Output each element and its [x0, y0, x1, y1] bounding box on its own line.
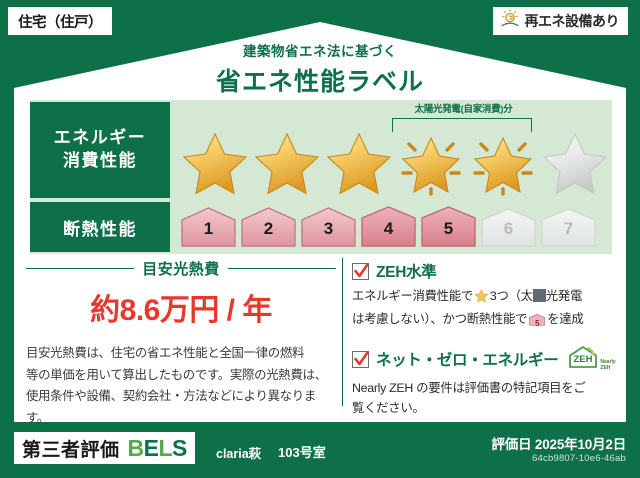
cost-rule-left [26, 268, 134, 270]
star-2 [252, 128, 322, 196]
zeh-body-part-c: 光発電 [546, 289, 582, 303]
zeh-standard-item: ZEH水準 エネルギー消費性能で3つ（太光発電 は考慮しない）、かつ断熱性能で5… [352, 260, 624, 334]
zeh-house-icon: ZEH [567, 345, 599, 374]
zeh-standard-title: ZEH水準 [376, 260, 437, 282]
cost-heading: 目安光熱費 [26, 258, 336, 279]
energy-label-line1: エネルギー [54, 127, 147, 150]
net-zero-body: Nearly ZEH の要件は評価書の特記項目をご 覧ください。 [352, 378, 624, 419]
evaluation-date: 評価日 2025年10月2日 [491, 433, 626, 453]
room-number: 103号室 [278, 442, 326, 461]
star-6-empty [540, 128, 610, 196]
check-icon [352, 263, 369, 280]
column-divider [342, 258, 343, 406]
solar-bracket-label: 太陽光発電(自家消費)分 [376, 101, 551, 115]
cost-rule-right [228, 268, 336, 270]
estimated-utility-cost-section: 目安光熱費 約8.6万円 / 年 目安光熱費は、住宅の省エネ性能と全国一律の燃料… [26, 256, 336, 430]
inline-house-icon: 5 [529, 313, 545, 333]
category-chip: 住宅（住戸） [8, 7, 112, 35]
category-chip-label: 住宅（住戸） [18, 11, 102, 32]
insulation-level-3-number: 3 [300, 219, 357, 239]
energy-label-line2: 消費性能 [63, 150, 137, 173]
cost-value: 約8.6万円 / 年 [26, 285, 336, 329]
title-main: 省エネ性能ラベル [0, 62, 640, 98]
zeh-logo: ZEH Nearly ZEH [567, 345, 615, 374]
insulation-level-5: 5 [420, 206, 477, 248]
cost-title: 目安光熱費 [142, 258, 220, 279]
third-party-evaluation-label: 第三者評価 [22, 435, 120, 462]
stars-row [180, 128, 610, 196]
zeh-standard-body: エネルギー消費性能で3つ（太光発電 は考慮しない）、かつ断熱性能で5を達成 [352, 286, 624, 334]
star-4-solar [396, 128, 466, 196]
cost-note-line-2: 等の単価を用いて算出したものです。実際の光熱費は、 [26, 365, 336, 387]
net-zero-body-line-2: 覧ください。 [352, 398, 624, 418]
zeh-logo-sub: Nearly ZEH [600, 360, 615, 374]
cost-note: 目安光熱費は、住宅の省エネ性能と全国一律の燃料 等の単価を用いて算出したものです… [26, 343, 336, 430]
energy-performance-label: エネルギー 消費性能 [30, 102, 170, 198]
zeh-body-part-e: を達成 [547, 312, 583, 326]
insulation-level-7: 7 [540, 206, 597, 248]
evaluation-id: 64cb9807-10e6-46ab [532, 453, 626, 464]
building-name: claria萩 [216, 443, 261, 462]
bels-chip: 第三者評価 BELS [14, 432, 195, 464]
star-3 [324, 128, 394, 196]
insulation-level-2-number: 2 [240, 219, 297, 239]
star-5-solar [468, 128, 538, 196]
insulation-level-1-number: 1 [180, 219, 237, 239]
bels-letter-3: L [158, 435, 172, 461]
zeh-body-part-a: エネルギー消費性能で [352, 289, 473, 303]
redaction-block [533, 289, 546, 302]
insulation-label-text: 断熱性能 [63, 215, 137, 240]
bels-letter-2: E [144, 435, 159, 461]
label-title: 建築物省エネ法に基づく 省エネ性能ラベル [0, 40, 640, 98]
title-subtitle: 建築物省エネ法に基づく [0, 40, 640, 60]
performance-block: エネルギー 消費性能 太陽光発電(自家消費)分 [28, 100, 612, 254]
zeh-section: ZEH水準 エネルギー消費性能で3つ（太光発電 は考慮しない）、かつ断熱性能で5… [352, 260, 624, 430]
net-zero-heading: ネット・ゼロ・エネルギー ZEH Nearly ZEH [352, 345, 624, 374]
bels-letter-1: B [128, 435, 144, 461]
bels-logo: BELS [128, 435, 187, 462]
zeh-body-part-b: 3つ（太 [490, 289, 533, 303]
bels-letter-4: S [172, 435, 187, 461]
cost-note-line-1: 目安光熱費は、住宅の省エネ性能と全国一律の燃料 [26, 343, 336, 365]
insulation-level-1: 1 [180, 206, 237, 248]
svg-text:ZEH: ZEH [574, 354, 593, 365]
insulation-level-4-number: 4 [360, 219, 417, 239]
renewable-badge-label: 再エネ設備あり [525, 11, 620, 31]
insulation-performance-label: 断熱性能 [30, 202, 170, 252]
insulation-level-7-number: 7 [540, 219, 597, 239]
sun-icon [499, 8, 521, 35]
zeh-standard-heading: ZEH水準 [352, 260, 624, 282]
insulation-level-2: 2 [240, 206, 297, 248]
inline-star-icon [474, 292, 489, 306]
insulation-level-5-number: 5 [420, 219, 477, 239]
zeh-body-part-d: は考慮しない）、かつ断熱性能で [352, 312, 527, 326]
star-1 [180, 128, 250, 196]
net-zero-body-line-1: Nearly ZEH の要件は評価書の特記項目をご [352, 378, 624, 398]
energy-performance-row: エネルギー 消費性能 太陽光発電(自家消費)分 [30, 102, 612, 198]
zeh-logo-sub-line-2: ZEH [600, 366, 615, 372]
energy-performance-label: 住宅（住戸） 再エネ設備あり 建築物省エネ法に基づく 省エネ性能ラベル [0, 0, 640, 478]
renewable-equipment-badge: 再エネ設備あり [493, 7, 629, 35]
inline-house-level: 5 [529, 317, 545, 330]
check-icon [352, 351, 369, 368]
insulation-level-3: 3 [300, 206, 357, 248]
energy-stars-area: 太陽光発電(自家消費)分 [180, 102, 604, 198]
insulation-performance-row: 断熱性能 [30, 202, 612, 252]
net-zero-title: ネット・ゼロ・エネルギー [376, 348, 558, 370]
insulation-level-6-number: 6 [480, 219, 537, 239]
insulation-level-4: 4 [360, 206, 417, 248]
insulation-levels: 1 2 3 4 [180, 202, 604, 252]
net-zero-energy-item: ネット・ゼロ・エネルギー ZEH Nearly ZEH [352, 345, 624, 419]
lower-content: 目安光熱費 約8.6万円 / 年 目安光熱費は、住宅の省エネ性能と全国一律の燃料… [0, 256, 640, 416]
footer-bar: 第三者評価 BELS claria萩 103号室 評価日 2025年10月2日 … [0, 422, 640, 478]
insulation-level-6: 6 [480, 206, 537, 248]
